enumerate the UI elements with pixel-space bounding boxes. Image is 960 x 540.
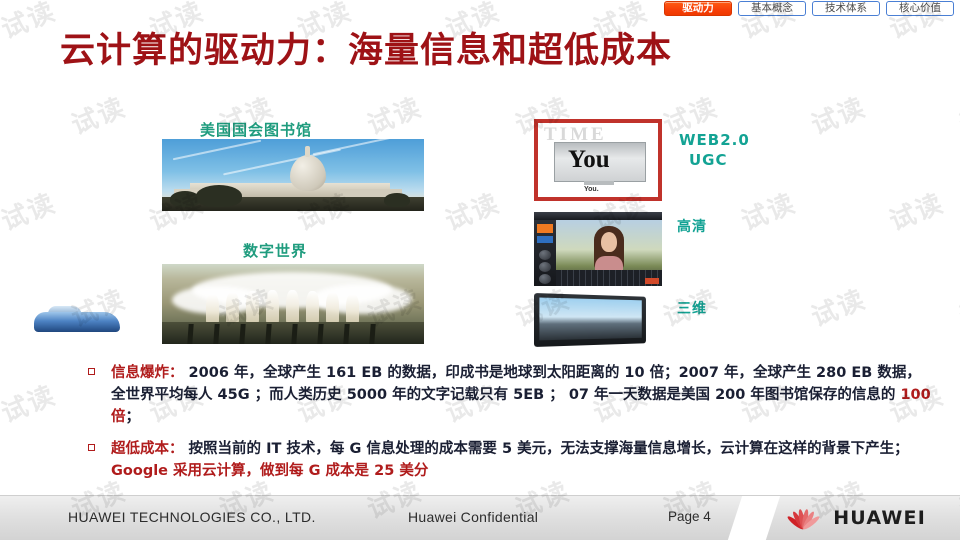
bullet-seg-1-2: ； <box>126 409 141 425</box>
time-cover-word: You <box>568 147 610 172</box>
watermark-text: 试读 <box>953 87 960 142</box>
tab-basic-concepts[interactable]: 基本概念 <box>738 1 806 16</box>
bullet-seg-2-1: Google 采用云计算，做到每 G 成本是 25 美分 <box>111 463 428 479</box>
huawei-brand: HUAWEI <box>782 505 926 531</box>
label-ugc: UGC <box>689 150 750 170</box>
label-web20: WEB2.0 <box>679 130 750 150</box>
watermark-text: 试读 <box>735 183 801 238</box>
huawei-wordmark: HUAWEI <box>833 507 926 529</box>
photo-time-magazine-cover: TIME You You. <box>534 119 662 201</box>
watermark-text: 试读 <box>805 279 871 334</box>
time-masthead-text: TIME <box>544 126 654 143</box>
watermark-text: 试读 <box>953 279 960 334</box>
footer-divider <box>728 496 780 540</box>
bullet-square-icon <box>88 368 95 375</box>
watermark-text: 试读 <box>0 375 61 430</box>
section-tabs: 驱动力 基本概念 技术体系 核心价值 <box>664 1 954 16</box>
bullet-text-2: 超低成本： 按照当前的 IT 技术，每 G 信息处理的成本需要 5 美元，无法支… <box>111 438 933 482</box>
watermark-text: 试读 <box>65 87 131 142</box>
footer-confidential: Huawei Confidential <box>408 509 538 525</box>
bullet-seg-1-0: 2006 年，全球产生 161 EB 的数据，印成书是地球到太阳距离的 10 倍… <box>111 365 921 403</box>
watermark-text: 试读 <box>883 183 949 238</box>
photo-us-capitol <box>162 139 424 211</box>
slide-footer: HUAWEI TECHNOLOGIES CO., LTD. Huawei Con… <box>0 495 960 540</box>
car-body-shape <box>34 312 120 332</box>
bullet-ultra-low-cost: 超低成本： 按照当前的 IT 技术，每 G 信息处理的成本需要 5 美元，无法支… <box>88 438 933 482</box>
bullet-text-1: 信息爆炸： 2006 年，全球产生 161 EB 的数据，印成书是地球到太阳距离… <box>111 362 933 428</box>
label-three-dimensional: 三维 <box>677 298 707 318</box>
bullet-list: 信息爆炸： 2006 年，全球产生 161 EB 的数据，印成书是地球到太阳距离… <box>88 362 933 492</box>
photo-hd-video-player <box>534 212 662 286</box>
watermark-text: 试读 <box>439 183 505 238</box>
label-web20-ugc: WEB2.0 UGC <box>679 130 750 170</box>
photo-3d-display-car <box>534 293 662 349</box>
caption-digital-world: 数字世界 <box>243 240 307 261</box>
footer-company: HUAWEI TECHNOLOGIES CO., LTD. <box>68 509 316 525</box>
label-high-definition: 高清 <box>677 216 707 236</box>
bullet-seg-2-0: 按照当前的 IT 技术，每 G 信息处理的成本需要 5 美元，无法支撑海量信息增… <box>184 441 909 457</box>
time-cover-subtext: You. <box>584 186 599 193</box>
tab-technical-system[interactable]: 技术体系 <box>812 1 880 16</box>
slide-title: 云计算的驱动力：海量信息和超低成本 <box>60 28 900 74</box>
tab-core-value[interactable]: 核心价值 <box>886 1 954 16</box>
bullet-square-icon <box>88 444 95 451</box>
watermark-text: 试读 <box>0 183 61 238</box>
huawei-logo-icon <box>782 505 824 531</box>
watermark-text: 试读 <box>0 0 61 46</box>
watermark-text: 试读 <box>805 87 871 142</box>
bullet-information-explosion: 信息爆炸： 2006 年，全球产生 161 EB 的数据，印成书是地球到太阳距离… <box>88 362 933 428</box>
slide-canvas: 驱动力 基本概念 技术体系 核心价值 云计算的驱动力：海量信息和超低成本 美国国… <box>0 0 960 540</box>
footer-page-number: Page 4 <box>668 509 711 524</box>
photo-dam-spillway <box>162 264 424 344</box>
caption-library-of-congress: 美国国会图书馆 <box>200 119 312 140</box>
tab-driving-force[interactable]: 驱动力 <box>664 1 732 16</box>
bullet-lead-2: 超低成本： <box>111 441 184 457</box>
bullet-lead-1: 信息爆炸： <box>111 365 184 381</box>
watermark-text: 试读 <box>361 87 427 142</box>
